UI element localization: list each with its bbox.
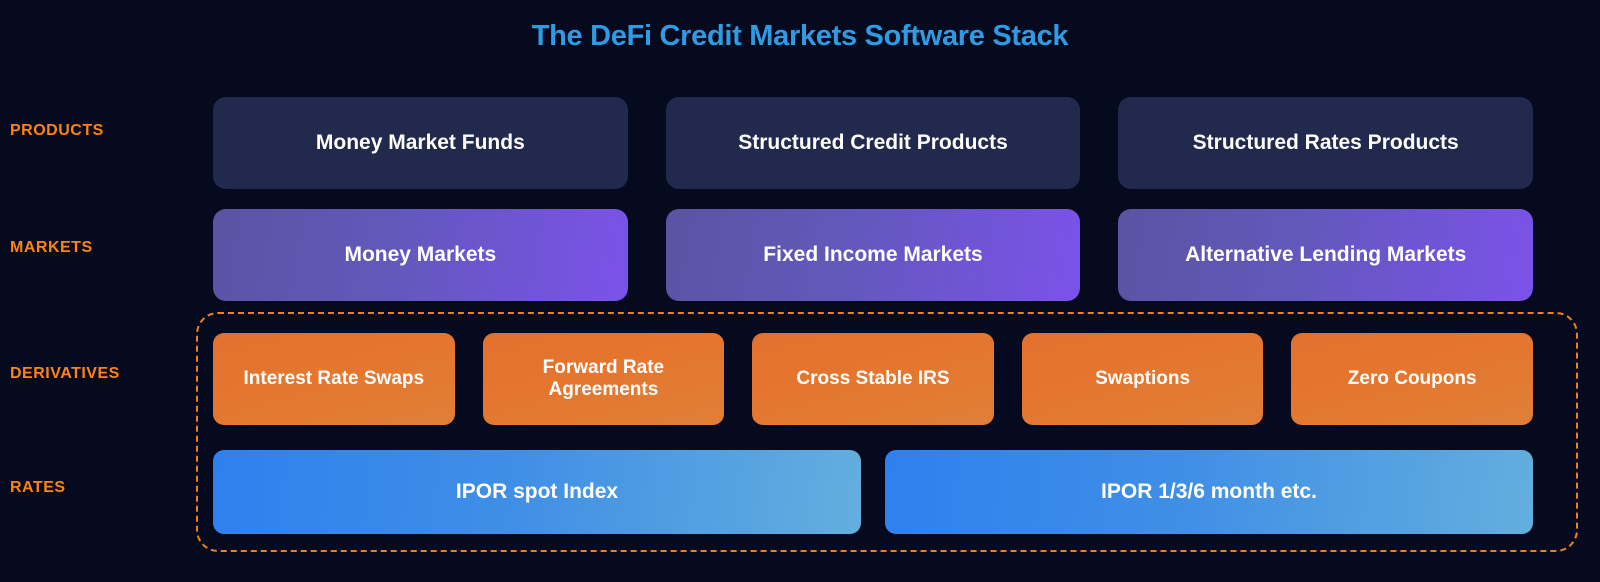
card-interest-rate-swaps[interactable]: Interest Rate Swaps: [213, 333, 455, 425]
rates-card-group: IPOR spot Index IPOR 1/3/6 month etc.: [213, 450, 1533, 534]
card-fixed-income-markets[interactable]: Fixed Income Markets: [666, 209, 1081, 301]
row-label-markets: MARKETS: [10, 239, 93, 257]
products-card-group: Money Market Funds Structured Credit Pro…: [213, 97, 1533, 189]
card-money-market-funds[interactable]: Money Market Funds: [213, 97, 628, 189]
card-cross-stable-irs[interactable]: Cross Stable IRS: [752, 333, 994, 425]
row-label-derivatives: DERIVATIVES: [10, 365, 120, 383]
card-money-markets[interactable]: Money Markets: [213, 209, 628, 301]
defi-stack-diagram: The DeFi Credit Markets Software Stack P…: [0, 0, 1600, 582]
markets-card-group: Money Markets Fixed Income Markets Alter…: [213, 209, 1533, 301]
row-label-rates: RATES: [10, 479, 66, 497]
card-ipor-spot-index[interactable]: IPOR spot Index: [213, 450, 861, 534]
card-swaptions[interactable]: Swaptions: [1022, 333, 1264, 425]
row-derivatives: DERIVATIVES Interest Rate Swaps Forward …: [0, 333, 1600, 425]
card-alternative-lending-markets[interactable]: Alternative Lending Markets: [1118, 209, 1533, 301]
derivatives-card-group: Interest Rate Swaps Forward Rate Agreeme…: [213, 333, 1533, 425]
card-ipor-tenor-rates[interactable]: IPOR 1/3/6 month etc.: [885, 450, 1533, 534]
card-forward-rate-agreements[interactable]: Forward Rate Agreements: [483, 333, 725, 425]
card-structured-credit-products[interactable]: Structured Credit Products: [666, 97, 1081, 189]
card-zero-coupons[interactable]: Zero Coupons: [1291, 333, 1533, 425]
page-title: The DeFi Credit Markets Software Stack: [0, 20, 1600, 53]
row-label-products: PRODUCTS: [10, 122, 104, 140]
row-products: PRODUCTS Money Market Funds Structured C…: [0, 97, 1600, 189]
row-rates: RATES IPOR spot Index IPOR 1/3/6 month e…: [0, 450, 1600, 534]
card-structured-rates-products[interactable]: Structured Rates Products: [1118, 97, 1533, 189]
row-markets: MARKETS Money Markets Fixed Income Marke…: [0, 209, 1600, 301]
